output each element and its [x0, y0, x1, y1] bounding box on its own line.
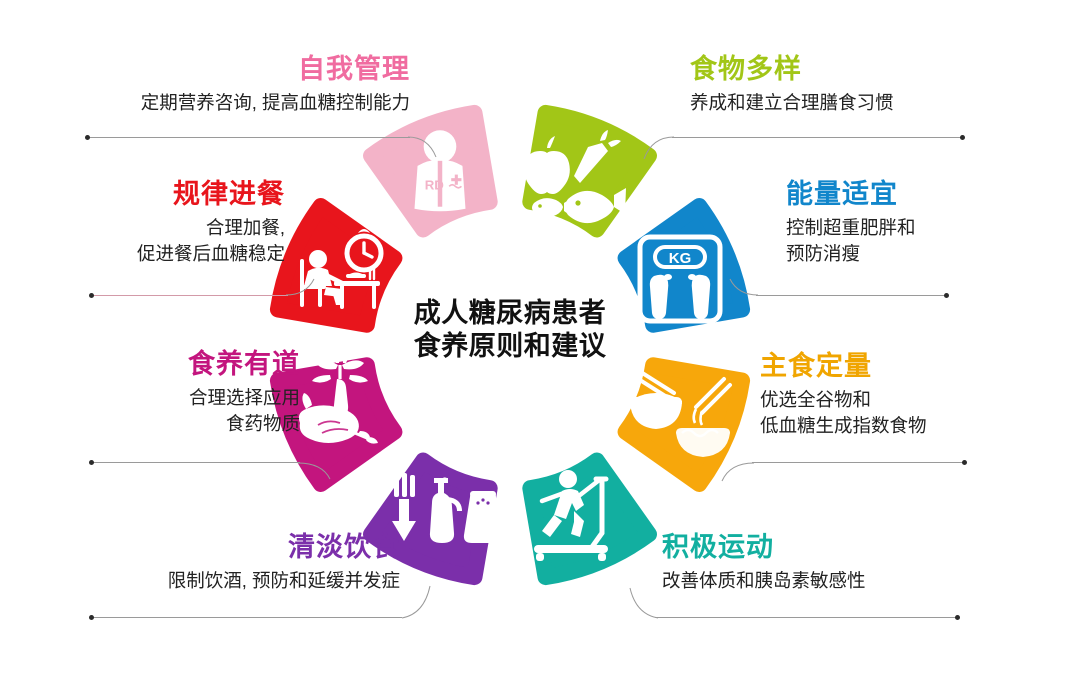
leader-line-staple-quantified — [752, 462, 964, 463]
leader-curve-self-management — [408, 118, 448, 158]
leader-line-self-management — [88, 137, 410, 138]
callout-title-dietary-therapy: 食养有道 — [60, 350, 300, 380]
leader-curve-dietary-therapy — [296, 444, 338, 484]
leader-dot-staple-quantified — [962, 460, 967, 465]
callout-desc-energy-appropriate-2: 预防消瘦 — [786, 241, 1036, 267]
leader-dot-active-exercise — [955, 615, 960, 620]
callout-title-staple-quantified: 主食定量 — [760, 352, 1020, 382]
center-title: 成人糖尿病患者 食养原则和建议 — [355, 297, 665, 364]
leader-curve-regular-meals — [284, 276, 318, 310]
callout-staple-quantified[interactable]: 主食定量 优选全谷物和 低血糖生成指数食物 — [760, 352, 1020, 439]
leader-dot-dietary-therapy — [89, 460, 94, 465]
callout-desc-light-diet: 限制饮酒, 预防和延缓并发症 — [70, 568, 400, 594]
center-title-line2: 食养原则和建议 — [355, 330, 665, 363]
leader-curve-food-variety — [632, 118, 676, 162]
callout-title-light-diet: 清淡饮食 — [70, 533, 400, 563]
leader-dot-energy-appropriate — [944, 293, 949, 298]
callout-desc-food-variety: 养成和建立合理膳食习惯 — [690, 90, 1030, 116]
leader-curve-energy-appropriate — [726, 276, 760, 310]
leader-line-energy-appropriate — [756, 295, 946, 296]
callout-title-active-exercise: 积极运动 — [662, 533, 992, 563]
leader-line-active-exercise — [655, 617, 957, 618]
leader-dot-regular-meals — [89, 293, 94, 298]
callout-energy-appropriate[interactable]: 能量适宜 控制超重肥胖和 预防消瘦 — [786, 180, 1036, 267]
leader-curve-light-diet — [398, 578, 442, 624]
callout-desc-regular-meals-2: 促进餐后血糖稳定 — [95, 241, 285, 267]
callout-active-exercise[interactable]: 积极运动 改善体质和胰岛素敏感性 — [662, 533, 992, 594]
leader-curve-staple-quantified — [716, 444, 756, 484]
scale-unit-text: KG — [669, 250, 692, 267]
callout-desc-dietary-therapy-1: 合理选择应用 — [60, 385, 300, 411]
callout-title-self-management: 自我管理 — [60, 55, 410, 85]
segment-active-exercise[interactable] — [512, 453, 652, 583]
callout-desc-staple-quantified-1: 优选全谷物和 — [760, 387, 1020, 413]
coat-badge-text: RD — [425, 177, 445, 192]
leader-line-light-diet — [92, 617, 402, 618]
callout-title-food-variety: 食物多样 — [690, 55, 1030, 85]
leader-dot-self-management — [85, 135, 90, 140]
callout-desc-active-exercise: 改善体质和胰岛素敏感性 — [662, 568, 992, 594]
leader-dot-light-diet — [89, 615, 94, 620]
leader-line-dietary-therapy — [92, 462, 300, 463]
callout-desc-self-management: 定期营养咨询, 提高血糖控制能力 — [60, 90, 410, 116]
leader-curve-active-exercise — [618, 580, 662, 624]
center-title-line1: 成人糖尿病患者 — [355, 297, 665, 330]
callout-desc-energy-appropriate-1: 控制超重肥胖和 — [786, 215, 1036, 241]
callout-desc-regular-meals-1: 合理加餐, — [95, 215, 285, 241]
callout-food-variety[interactable]: 食物多样 养成和建立合理膳食习惯 — [690, 55, 1030, 116]
callout-self-management[interactable]: 自我管理 定期营养咨询, 提高血糖控制能力 — [60, 55, 410, 116]
leader-line-regular-meals — [92, 295, 288, 296]
callout-light-diet[interactable]: 清淡饮食 限制饮酒, 预防和延缓并发症 — [70, 533, 400, 594]
callout-regular-meals[interactable]: 规律进餐 合理加餐, 促进餐后血糖稳定 — [95, 180, 285, 267]
callout-title-regular-meals: 规律进餐 — [95, 180, 285, 210]
callout-desc-dietary-therapy-2: 食药物质 — [60, 411, 300, 437]
leader-line-food-variety — [672, 137, 962, 138]
infographic-canvas: RD — [0, 0, 1080, 673]
callout-desc-staple-quantified-2: 低血糖生成指数食物 — [760, 413, 1020, 439]
leader-dot-food-variety — [960, 135, 965, 140]
callout-title-energy-appropriate: 能量适宜 — [786, 180, 1036, 210]
callout-dietary-therapy[interactable]: 食养有道 合理选择应用 食药物质 — [60, 350, 300, 437]
